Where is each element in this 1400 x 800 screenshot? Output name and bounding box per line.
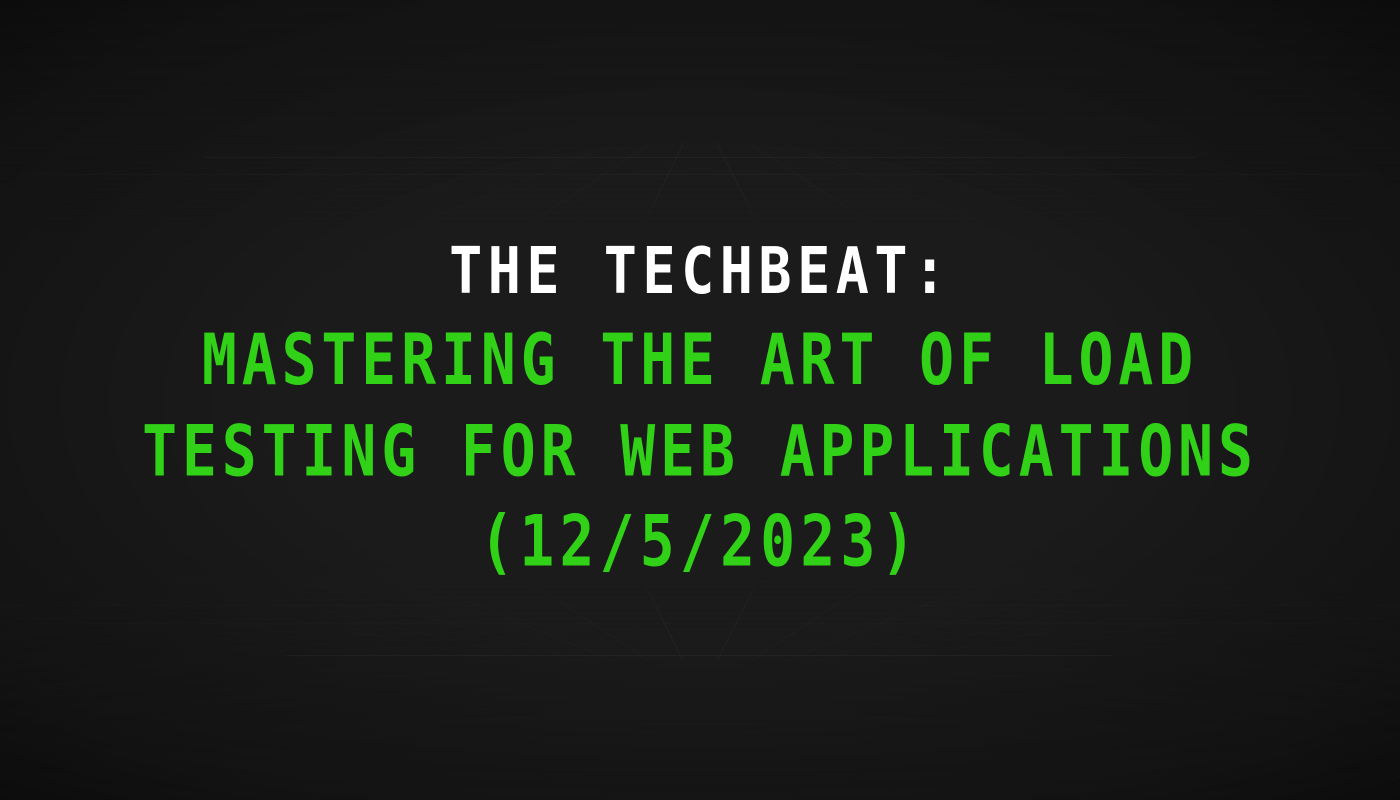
poster-canvas: THE TECHBEAT: MASTERING THE ART OF LOAD … <box>0 0 1400 800</box>
headline-line-1: MASTERING THE ART OF LOAD <box>202 322 1198 398</box>
headline-line-2: TESTING FOR WEB APPLICATIONS <box>142 413 1258 489</box>
headline-text: MASTERING THE ART OF LOAD TESTING FOR WE… <box>142 322 1258 580</box>
title-block: THE TECHBEAT: MASTERING THE ART OF LOAD … <box>0 0 1400 800</box>
kicker-text: THE TECHBEAT: <box>449 238 952 307</box>
headline-date-line: (12/5/2023) <box>479 504 921 580</box>
